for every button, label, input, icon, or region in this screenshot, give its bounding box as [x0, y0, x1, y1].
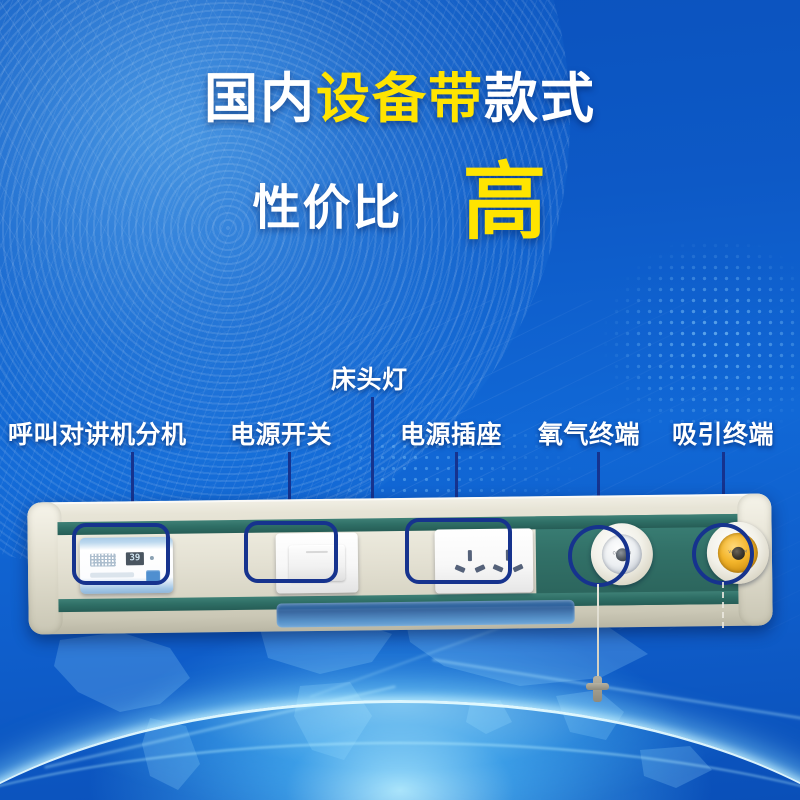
- highlight-box-power-socket: [405, 518, 512, 584]
- callout-label-bed-lamp: 床头灯: [331, 360, 408, 396]
- pull-cord-handle[interactable]: [593, 676, 602, 702]
- headline-line1-part2: 款式: [484, 67, 596, 130]
- highlight-box-power-switch: [244, 521, 338, 583]
- headline-subtext: 性价比: [252, 184, 402, 232]
- headline-emphasis: 高: [463, 160, 548, 244]
- headline-line1-accent: 设备带: [316, 67, 484, 130]
- callout-label-power-socket: 电源插座: [400, 415, 502, 451]
- callout-label-power-switch: 电源开关: [230, 415, 332, 451]
- callout-label-suction-terminal: 吸引终端: [672, 415, 774, 451]
- highlight-box-nurse-call-intercom: [72, 523, 170, 585]
- highlight-ring-suction-terminal: [692, 523, 754, 585]
- socket-pin-right: [512, 564, 523, 573]
- pull-cord-oxygen[interactable]: [597, 584, 599, 682]
- pull-cord-suction[interactable]: [722, 582, 724, 628]
- callout-label-nurse-call-intercom: 呼叫对讲机分机: [8, 415, 187, 451]
- headline-line-2: 性价比 高: [0, 148, 800, 232]
- highlight-ring-oxygen-terminal: [568, 525, 630, 587]
- product-banner: 国内设备带款式 性价比 高 呼叫对讲机分机 电源开关 床头灯 电源插座 氧气终端…: [0, 0, 800, 800]
- headline-block: 国内设备带款式 性价比 高: [0, 72, 800, 232]
- headline-line1-part1: 国内: [204, 67, 316, 130]
- callout-label-oxygen-terminal: 氧气终端: [538, 415, 640, 451]
- headline-line-1: 国内设备带款式: [0, 72, 800, 126]
- bed-lamp-diffuser[interactable]: [276, 600, 574, 628]
